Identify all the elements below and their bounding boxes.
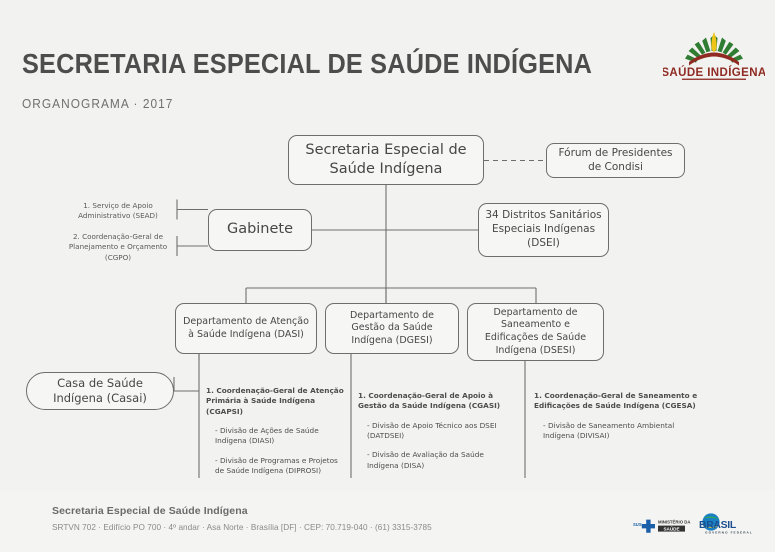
page-subtitle: ORGANOGRAMA · 2017	[22, 97, 173, 111]
footer-address: SRTVN 702 · Edifício PO 700 · 4º andar ·…	[52, 523, 432, 532]
node-dsesi[interactable]: Departamento de Saneamento e Edificações…	[467, 303, 604, 361]
sus-label: SUS	[633, 522, 642, 527]
footer-title: Secretaria Especial de Saúde Indígena	[52, 505, 248, 517]
column-dgesi-head: 1. Coordenação-Geral de Apoio à Gestão d…	[358, 391, 508, 412]
node-dasi-label: Departamento de Atenção à Saúde Indígena…	[176, 316, 316, 341]
logo-underline	[682, 79, 746, 80]
ministry-line2: SAÚDE	[663, 525, 679, 531]
node-dgesi[interactable]: Departamento de Gestão da Saúde Indígena…	[325, 303, 459, 354]
sidenote-cgpo: 2. Coordenação-Geral de Planejamento e O…	[63, 232, 173, 263]
ministry-line1: MINISTÉRIO DA	[658, 520, 690, 525]
organogram-page: SECRETARIA ESPECIAL DE SAÚDE INDÍGENA OR…	[0, 0, 775, 552]
headdress-icon	[685, 32, 743, 66]
node-dsei[interactable]: 34 Distritos Sanitários Especiais Indíge…	[478, 203, 609, 257]
column-dsesi-head: 1. Coordenação-Geral de Saneamento e Edi…	[534, 391, 704, 412]
node-sesai[interactable]: Secretaria Especial de Saúde Indígena	[288, 135, 484, 185]
node-casai-label: Casa de Saúde Indígena (Casai)	[27, 376, 173, 406]
node-dsesi-label: Departamento de Saneamento e Edificações…	[468, 307, 603, 357]
column-dasi-item: - Divisão de Ações de Saúde Indígena (DI…	[206, 426, 346, 447]
node-dsei-label: 34 Distritos Sanitários Especiais Indíge…	[479, 209, 608, 251]
column-dasi-item: - Divisão de Programas e Projetos de Saú…	[206, 456, 346, 477]
column-dasi: 1. Coordenação-Geral de Atenção Primária…	[206, 386, 346, 486]
sus-logo-icon: SUS	[633, 520, 655, 533]
saude-indigena-logo: SAÚDE INDÍGENA	[663, 26, 765, 82]
node-dgesi-label: Departamento de Gestão da Saúde Indígena…	[326, 310, 458, 348]
node-forum-presidentes-condisi[interactable]: Fórum de Presidentes de Condisi	[546, 143, 685, 178]
column-dgesi-item: - Divisão de Avaliação da Saúde Indígena…	[358, 450, 508, 471]
column-dsesi: 1. Coordenação-Geral de Saneamento e Edi…	[534, 391, 704, 450]
page-title: SECRETARIA ESPECIAL DE SAÚDE INDÍGENA	[22, 48, 592, 80]
column-dasi-head: 1. Coordenação-Geral de Atenção Primária…	[206, 386, 346, 417]
ministerio-saude-logo: MINISTÉRIO DA SAÚDE	[658, 520, 690, 532]
sidenote-sead: 1. Serviço de Apoio Administrativo (SEAD…	[63, 201, 173, 222]
node-dasi[interactable]: Departamento de Atenção à Saúde Indígena…	[175, 303, 317, 354]
node-gabinete[interactable]: Gabinete	[208, 209, 312, 251]
logo-text: SAÚDE INDÍGENA	[663, 66, 765, 79]
brasil-governo-federal-logo: BRASIL GOVERNO FEDERAL	[699, 513, 753, 534]
column-dgesi: 1. Coordenação-Geral de Apoio à Gestão d…	[358, 391, 508, 480]
node-sesai-label: Secretaria Especial de Saúde Indígena	[289, 141, 483, 179]
node-casai[interactable]: Casa de Saúde Indígena (Casai)	[26, 372, 174, 410]
brasil-sublabel: GOVERNO FEDERAL	[705, 531, 753, 535]
node-gabinete-label: Gabinete	[221, 220, 299, 239]
node-forum-label: Fórum de Presidentes de Condisi	[547, 147, 684, 175]
brasil-label: BRASIL	[699, 520, 737, 531]
column-dgesi-item: - Divisão de Apoio Técnico aos DSEI (DAT…	[358, 421, 508, 442]
column-dsesi-item: - Divisão de Saneamento Ambiental Indíge…	[534, 421, 704, 442]
footer-logos: SUS MINISTÉRIO DA SAÚDE BRASIL GOVERNO F…	[633, 511, 763, 539]
